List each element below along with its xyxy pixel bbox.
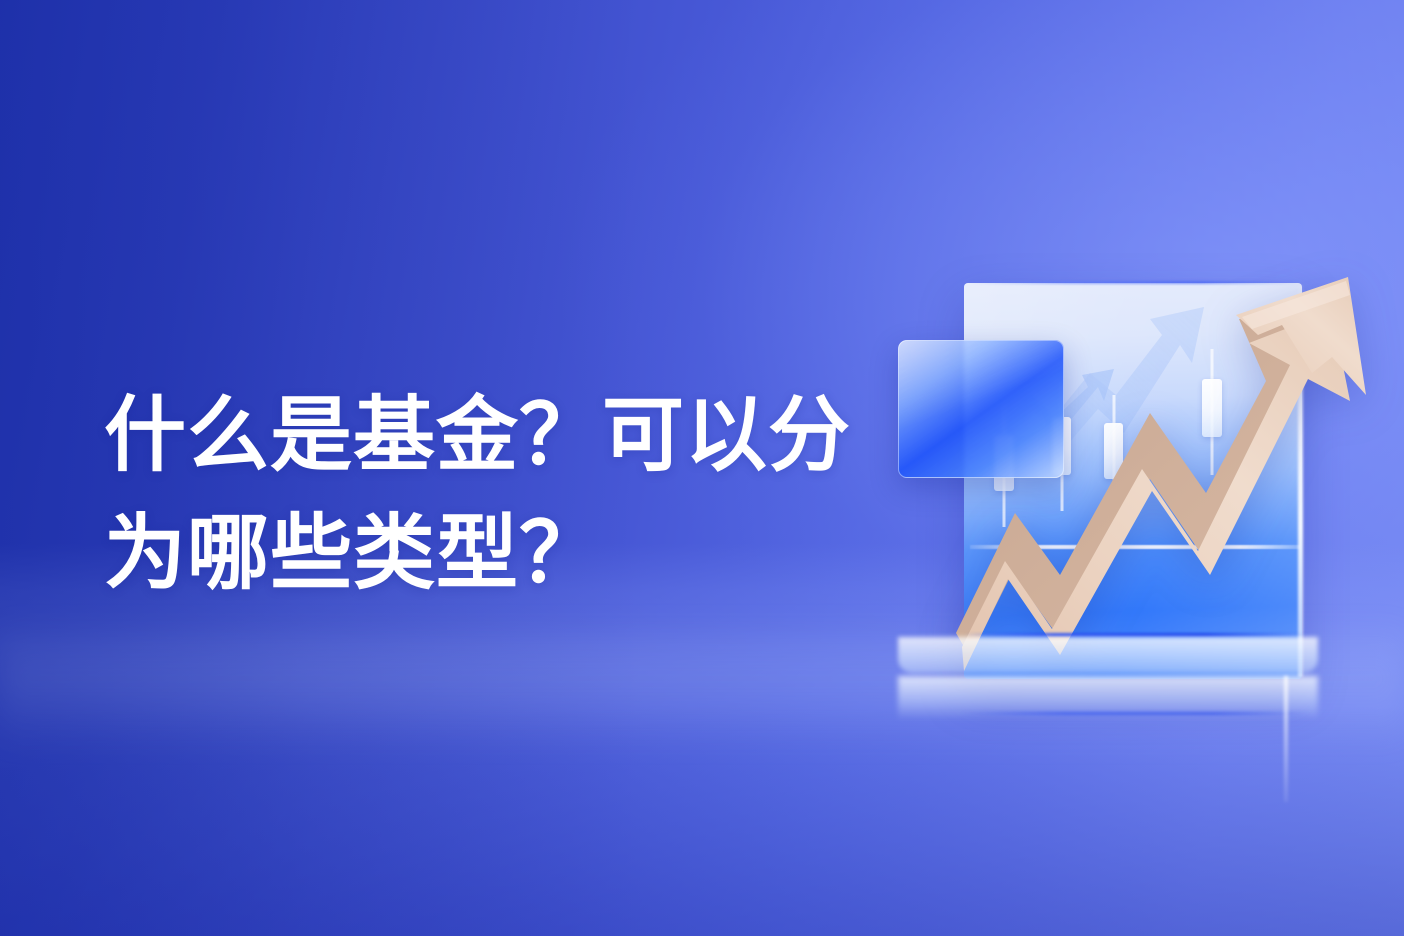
background-bottom-shade	[0, 706, 1404, 936]
poster-root: 什么是基金？可以分 为哪些类型？	[0, 0, 1404, 936]
illustration-3d-growth-chart	[880, 255, 1404, 725]
page-title: 什么是基金？可以分 为哪些类型？	[104, 377, 934, 613]
reflection-card-edge	[1284, 676, 1288, 802]
glass-base-slab	[898, 637, 1318, 673]
reflection-shadow-line	[960, 712, 1310, 715]
